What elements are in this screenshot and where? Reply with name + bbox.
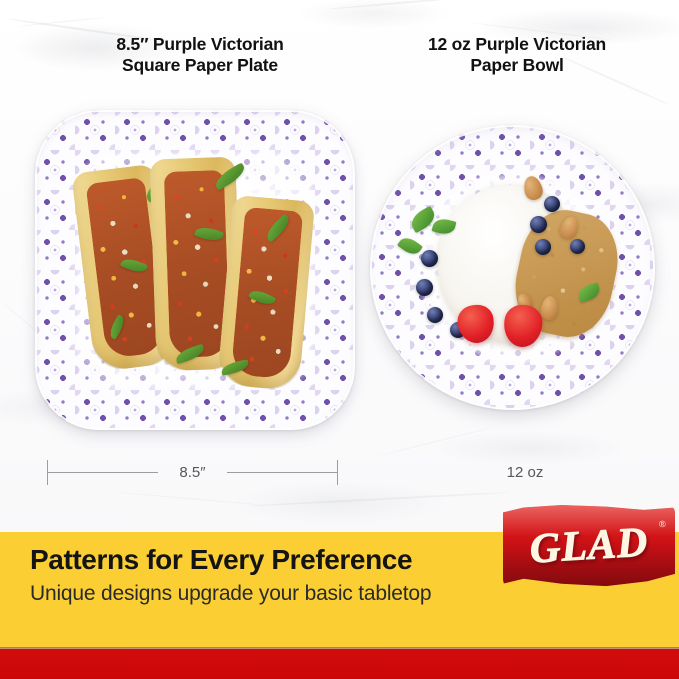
product-heading-right-line1: 12 oz Purple Victorian — [372, 34, 662, 55]
registered-trademark-icon: ® — [659, 519, 666, 529]
blueberry — [421, 250, 438, 267]
almond — [521, 174, 544, 202]
almond — [558, 214, 582, 241]
dimension-label-plate: 8.5″ — [47, 460, 338, 485]
mint-leaf — [407, 205, 438, 233]
banner-subhead: Unique designs upgrade your basic tablet… — [30, 582, 510, 606]
bowl-center-well — [418, 173, 606, 361]
strawberry — [456, 302, 497, 345]
taco-shell — [217, 195, 315, 391]
paper-bowl — [370, 125, 655, 410]
damask-pattern — [370, 125, 655, 410]
mint-leaf — [396, 234, 422, 258]
taco-item — [217, 195, 315, 391]
arugula-leaf — [212, 162, 248, 190]
square-paper-plate — [35, 110, 355, 430]
arugula-leaf — [174, 344, 206, 365]
product-heading-left: 8.5″ Purple Victorian Square Paper Plate — [30, 34, 370, 75]
taco-shell — [149, 157, 242, 372]
blueberry — [450, 322, 466, 338]
product-heading-left-line2: Square Paper Plate — [30, 55, 370, 76]
arugula-leaf — [248, 287, 276, 308]
arugula-leaf — [220, 359, 250, 376]
blueberry — [530, 216, 547, 233]
banner-bottom-stripe — [0, 649, 679, 679]
mint-leaf — [431, 217, 456, 237]
taco-item — [71, 164, 179, 373]
banner-headline: Patterns for Every Preference — [30, 544, 500, 576]
glad-logo: GLAD ® — [503, 505, 675, 587]
glad-logo-wordmark: GLAD — [501, 500, 678, 592]
taco-shell — [71, 164, 179, 373]
square-plate-product-image — [35, 110, 355, 430]
strawberry — [502, 303, 544, 349]
dimension-label-bowl: 12 oz — [400, 460, 650, 486]
arugula-leaf — [120, 256, 148, 276]
damask-pattern-overlay — [370, 125, 655, 410]
arugula-leaf — [194, 224, 224, 244]
taco-filling — [86, 177, 166, 359]
taco-item — [149, 157, 242, 372]
yogurt — [438, 185, 581, 345]
product-heading-left-line1: 8.5″ Purple Victorian — [30, 34, 370, 55]
damask-pattern-overlay — [35, 110, 355, 430]
arugula-leaf — [142, 174, 174, 203]
damask-pattern — [35, 110, 355, 430]
mint-leaf — [576, 282, 601, 302]
almond — [515, 291, 534, 312]
taco-filling — [164, 170, 231, 359]
blueberry — [427, 307, 443, 323]
blueberry — [544, 196, 560, 212]
arugula-leaf — [263, 214, 293, 243]
plate-center-well — [77, 152, 314, 389]
product-heading-right: 12 oz Purple Victorian Paper Bowl — [372, 34, 662, 75]
round-bowl-product-image — [370, 125, 655, 410]
dimension-line-plate: 8.5″ — [47, 460, 338, 486]
arugula-leaf — [107, 314, 128, 340]
blueberry — [535, 239, 551, 255]
product-feature-image: 8.5″ Purple Victorian Square Paper Plate… — [0, 0, 679, 679]
blueberry — [570, 239, 585, 254]
granola-cluster — [506, 202, 627, 345]
blueberry — [416, 279, 433, 296]
product-heading-right-line2: Paper Bowl — [372, 55, 662, 76]
almond — [539, 295, 559, 321]
taco-filling — [231, 207, 303, 379]
